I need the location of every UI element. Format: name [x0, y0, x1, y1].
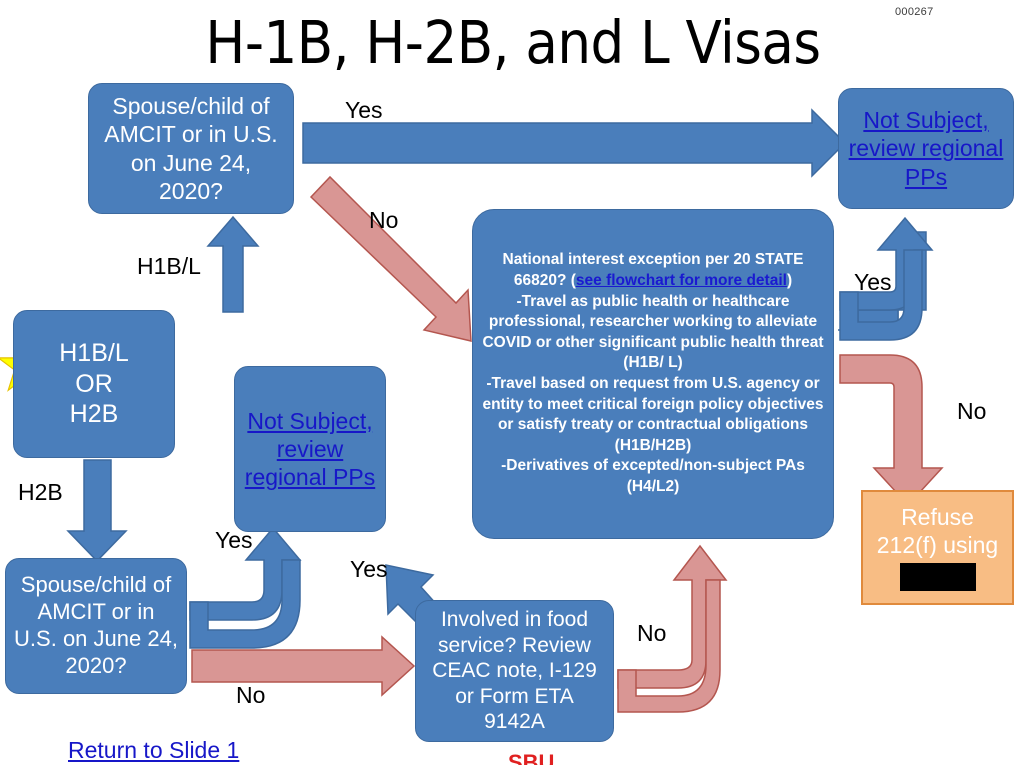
edge-label-no-right: No — [957, 398, 986, 425]
node-nie-text: National interest exception per 20 STATE… — [481, 250, 825, 497]
edge-label-h2b: H2B — [18, 479, 63, 506]
edge-label-no-food-up: No — [637, 620, 666, 647]
return-to-slide-1-link[interactable]: Return to Slide 1 — [68, 737, 239, 764]
arrow-no-right-group — [840, 355, 942, 505]
node-nie-lead-close: ) — [787, 272, 792, 289]
arrow-yes-top — [303, 110, 845, 176]
node-start-label: H1B/L OR H2B — [22, 338, 166, 430]
node-food-service[interactable]: Involved in food service? Review CEAC no… — [415, 600, 614, 742]
arrow-no-bottom — [192, 637, 414, 695]
edge-label-yes-right: Yes — [854, 269, 892, 296]
edge-label-h1bl: H1B/L — [137, 253, 201, 280]
node-nie-bullet-2: -Travel based on request from U.S. agenc… — [482, 375, 823, 454]
node-spouse-child-bottom-label: Spouse/child of AMCIT or in U.S. on June… — [14, 572, 178, 679]
edge-label-no-diagonal: No — [369, 207, 398, 234]
edge-label-no-bottom: No — [236, 682, 265, 709]
node-not-subject-mid-link[interactable]: Not Subject, review regional PPs — [243, 407, 377, 491]
node-nie-bullet-1: -Travel as public health or healthcare p… — [482, 293, 823, 372]
edge-label-yes-top: Yes — [345, 97, 383, 124]
node-food-service-label: Involved in food service? Review CEAC no… — [424, 607, 605, 735]
node-refuse-line2: 212(f) using — [877, 532, 998, 559]
slide-canvas: 000267 H-1B, H-2B, and L Visas — [0, 0, 1026, 765]
node-spouse-child-top[interactable]: Spouse/child of AMCIT or in U.S. on June… — [88, 83, 294, 214]
node-nie-flowchart-link[interactable]: see flowchart for more detail — [576, 272, 787, 289]
node-national-interest-exception[interactable]: National interest exception per 20 STATE… — [472, 209, 834, 539]
node-not-subject-top[interactable]: Not Subject, review regional PPs — [838, 88, 1014, 209]
arrow-no-diagonal — [311, 177, 471, 341]
classification-marking: SBU — [508, 750, 554, 765]
node-not-subject-mid[interactable]: Not Subject, review regional PPs — [234, 366, 386, 532]
edge-label-yes-mid-mid: Yes — [350, 556, 388, 583]
node-nie-bullet-3: -Derivatives of excepted/non-subject PAs… — [501, 457, 805, 495]
node-refuse-212f[interactable]: Refuse 212(f) using — [861, 490, 1014, 605]
node-spouse-child-top-label: Spouse/child of AMCIT or in U.S. on June… — [97, 92, 285, 204]
node-refuse-line1: Refuse — [901, 504, 974, 531]
page-title: H-1B, H-2B, and L Visas — [0, 8, 1026, 77]
node-not-subject-top-link[interactable]: Not Subject, review regional PPs — [847, 106, 1005, 190]
arrow-h1bl-up — [208, 217, 258, 312]
redaction-bar — [900, 563, 976, 591]
node-spouse-child-bottom[interactable]: Spouse/child of AMCIT or in U.S. on June… — [5, 558, 187, 694]
node-start-h1bl-or-h2b[interactable]: H1B/L OR H2B — [13, 310, 175, 458]
arrow-no-foodup-group — [618, 546, 726, 712]
edge-label-yes-mid-left: Yes — [215, 527, 253, 554]
arrow-h2b-down — [68, 460, 126, 561]
